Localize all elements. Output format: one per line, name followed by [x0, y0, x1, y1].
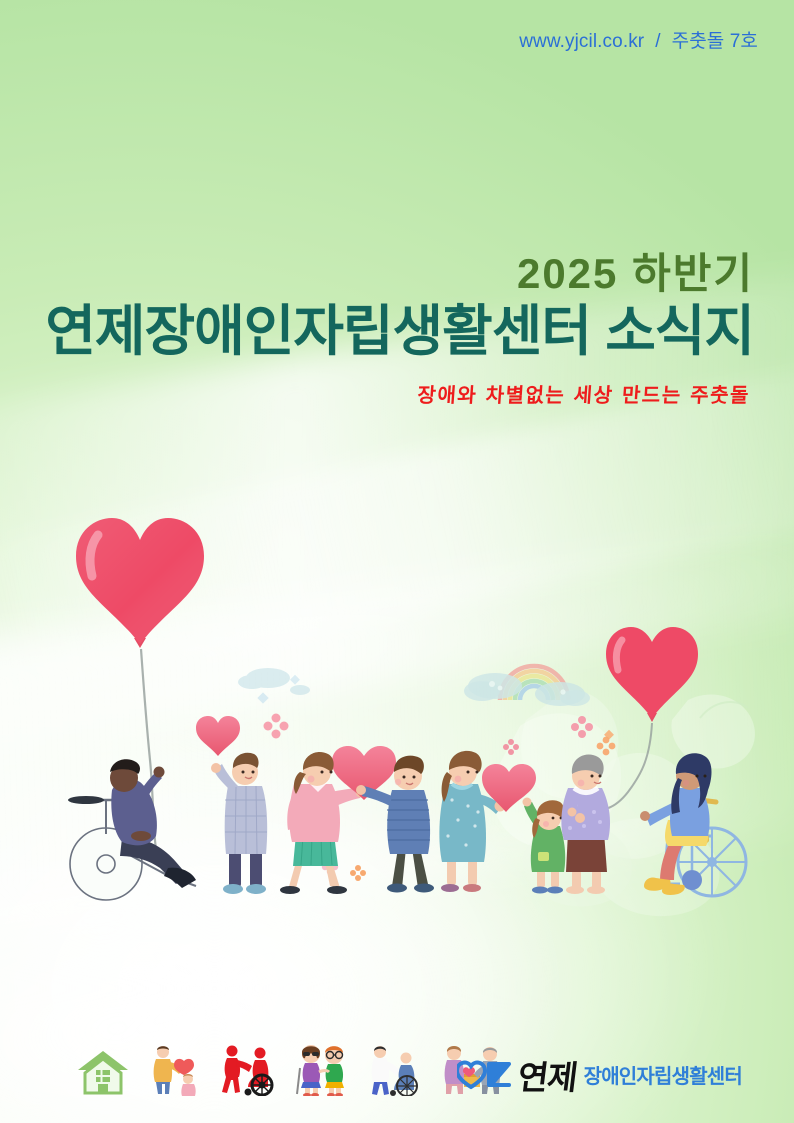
brand-name: 연제: [516, 1061, 579, 1094]
elderly-woman-purple: [561, 754, 610, 894]
woman-teal-dress-heart: [439, 751, 536, 892]
organization-logo: 연제 장애인자립생활센터: [457, 1058, 742, 1097]
wheelchair-assist-icon: [220, 1044, 278, 1101]
wheelchair-man-left: [68, 759, 196, 900]
caregiver-wheelchair-icon: [366, 1044, 424, 1101]
brand-subtitle: 장애인자립생활센터: [584, 1067, 742, 1089]
cloud-icon: [238, 668, 310, 695]
newsletter-cover: www.yjcil.co.kr / 주춧돌 7호 2025 하반기 연제장애인자…: [0, 0, 794, 1123]
footer-icon-row: [76, 1044, 502, 1101]
parent-child-heart-icon: [146, 1044, 204, 1101]
two-children-icon: [294, 1044, 350, 1101]
house-icon: [76, 1048, 130, 1101]
rainbow-cloud-icon: [464, 666, 590, 706]
child-green-dress: [523, 798, 566, 894]
main-illustration: [0, 0, 794, 1123]
person-plaid-coat-heart: [196, 716, 267, 894]
wheelchair-woman-right: [640, 753, 746, 896]
butterfly-heart-logo-icon: [457, 1058, 511, 1097]
woman-pink-coat-heart: [280, 746, 396, 894]
